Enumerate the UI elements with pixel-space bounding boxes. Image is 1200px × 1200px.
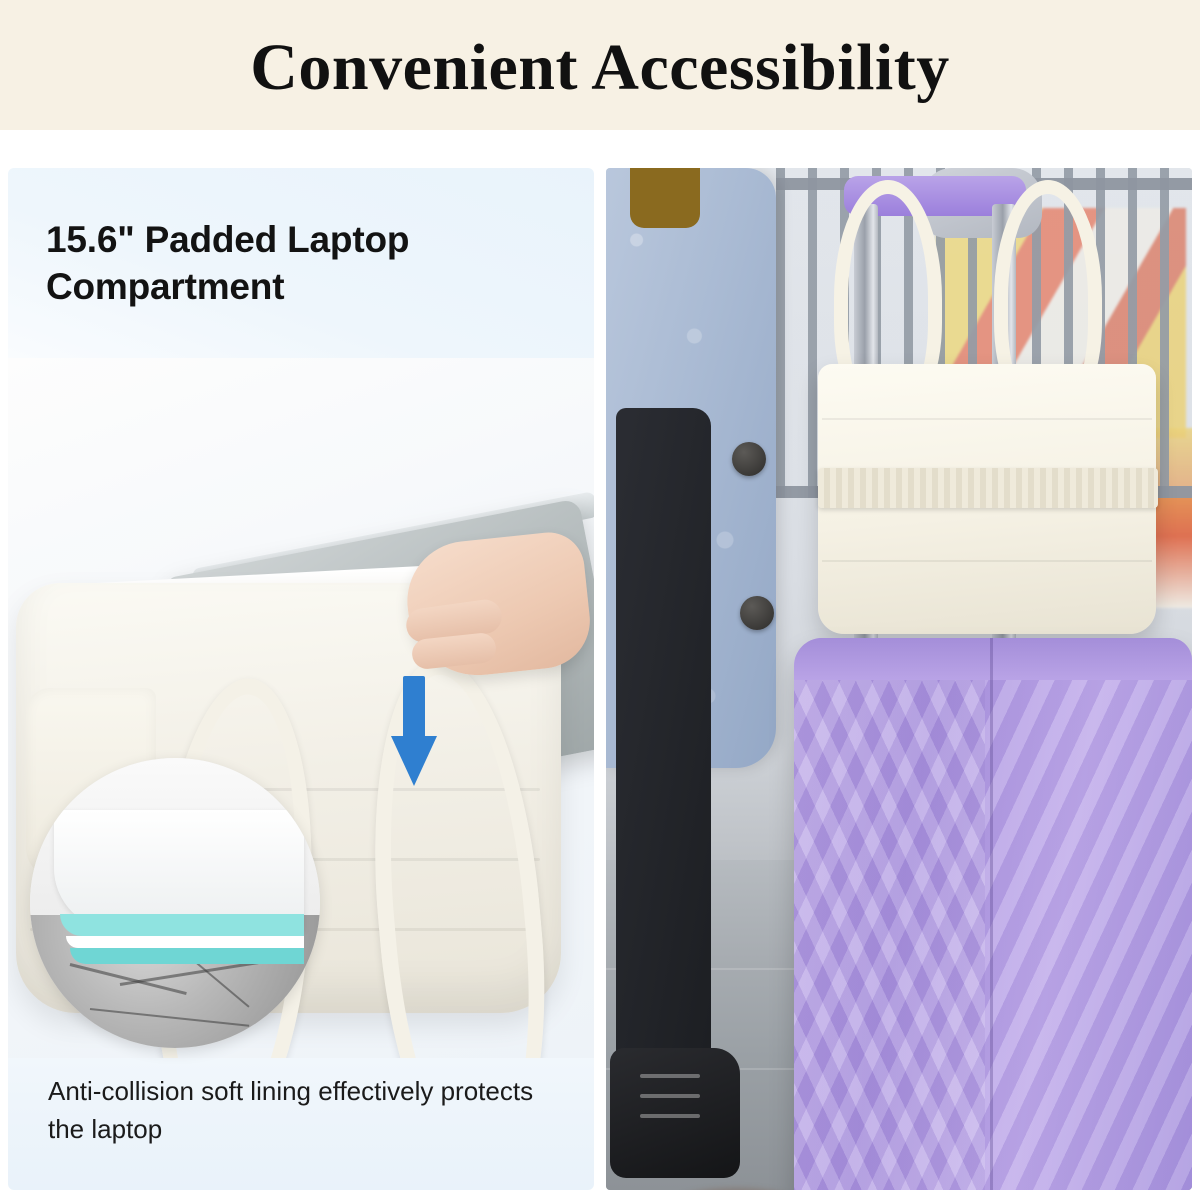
- right-lifestyle-panel: [606, 168, 1192, 1190]
- cushion-white-layer: [66, 936, 304, 948]
- coat-button: [740, 596, 774, 630]
- header-banner: Convenient Accessibility: [0, 0, 1200, 130]
- suitcase-top-panel: [794, 638, 1192, 680]
- coat-button: [732, 442, 766, 476]
- arrow-head: [391, 736, 437, 786]
- corner-cushion-inset: [30, 758, 320, 1048]
- suitcase-center-seam: [990, 638, 993, 1190]
- luggage-pass-through-strap: [818, 468, 1158, 508]
- tote-seam: [822, 560, 1152, 562]
- cushion-corner-layers: [54, 810, 304, 970]
- arrow-stem: [403, 676, 425, 742]
- person-boot: [610, 1048, 740, 1178]
- product-feature-image: Convenient Accessibility 15.6" Padded La…: [0, 0, 1200, 1200]
- boot-lace: [640, 1094, 700, 1098]
- boot-lace: [640, 1114, 700, 1118]
- inner-sweater-sleeve: [630, 168, 700, 228]
- down-arrow-icon: [391, 676, 435, 788]
- person-jeans: [616, 408, 711, 1108]
- cushion-outer-shell: [54, 810, 304, 930]
- page-title: Convenient Accessibility: [250, 35, 950, 101]
- left-feature-panel: 15.6" Padded Laptop Compartment: [8, 168, 594, 1190]
- cushion-soft-lining-layer: [70, 948, 304, 964]
- suitcase-chevron-texture-secondary: [794, 638, 985, 1190]
- boot-lace: [640, 1074, 700, 1078]
- laptop-compartment-heading: 15.6" Padded Laptop Compartment: [46, 216, 566, 311]
- anti-collision-caption: Anti-collision soft lining effectively p…: [48, 1073, 548, 1148]
- purple-suitcase: [794, 638, 1192, 1190]
- cushion-glow-layer: [60, 914, 304, 936]
- tote-seam: [822, 418, 1152, 420]
